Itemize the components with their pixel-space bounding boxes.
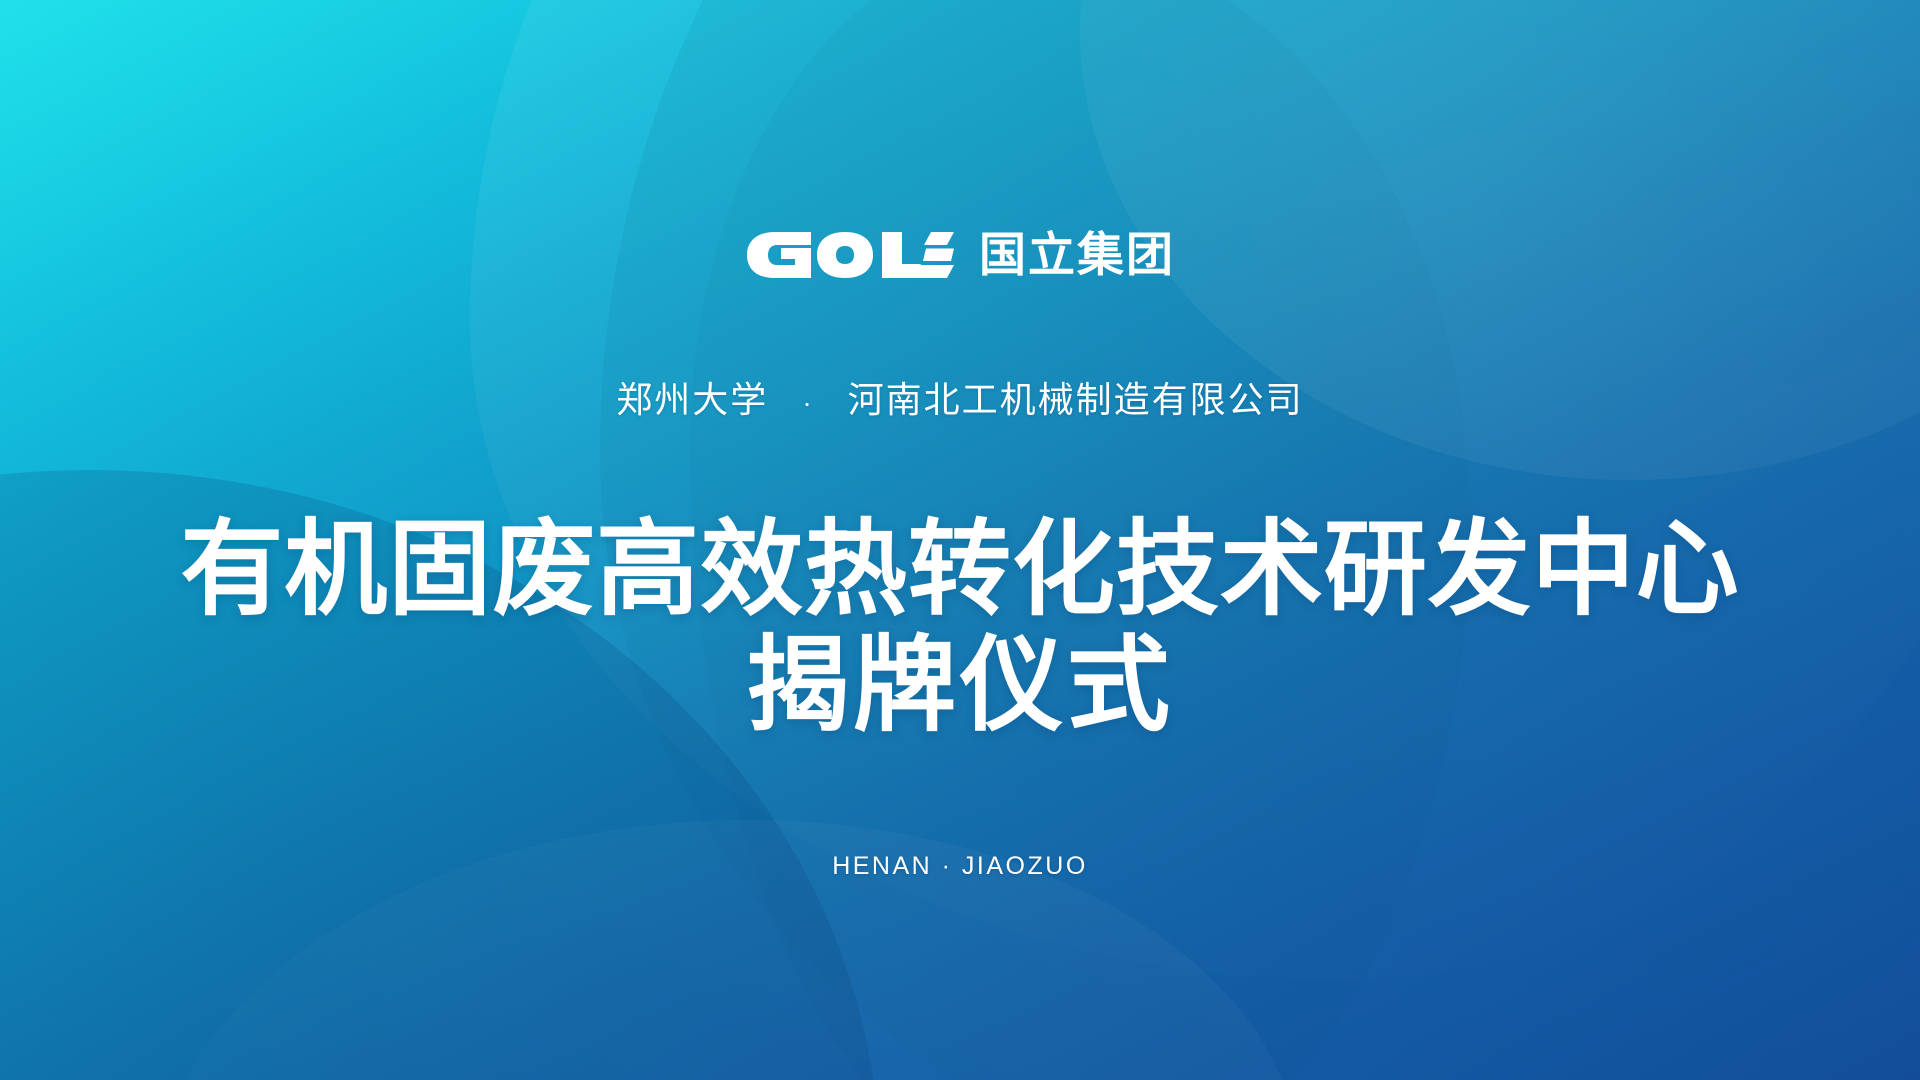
slide-content: 国立集团 郑州大学 · 河南北工机械制造有限公司 有机固废高效热转化技术研发中心… (0, 0, 1920, 1080)
title-slide: 国立集团 郑州大学 · 河南北工机械制造有限公司 有机固废高效热转化技术研发中心… (0, 0, 1920, 1080)
gole-wordmark-icon (745, 230, 955, 280)
brand-logo-chinese-name: 国立集团 (979, 231, 1175, 278)
brand-logo-lockup: 国立集团 (745, 224, 1175, 286)
page-title-line-1: 有机固废高效热转化技术研发中心 (10, 512, 1911, 628)
page-title: 有机固废高效热转化技术研发中心 揭牌仪式 (0, 512, 1920, 745)
footer-locale: HENAN · JIAOZUO (0, 852, 1920, 881)
partner-university: 郑州大学 (616, 379, 768, 420)
page-title-line-2: 揭牌仪式 (10, 628, 1911, 744)
partner-separator-dot: · (780, 386, 835, 420)
partner-company: 河南北工机械制造有限公司 (848, 379, 1304, 420)
partners-subtitle: 郑州大学 · 河南北工机械制造有限公司 (616, 378, 1303, 421)
